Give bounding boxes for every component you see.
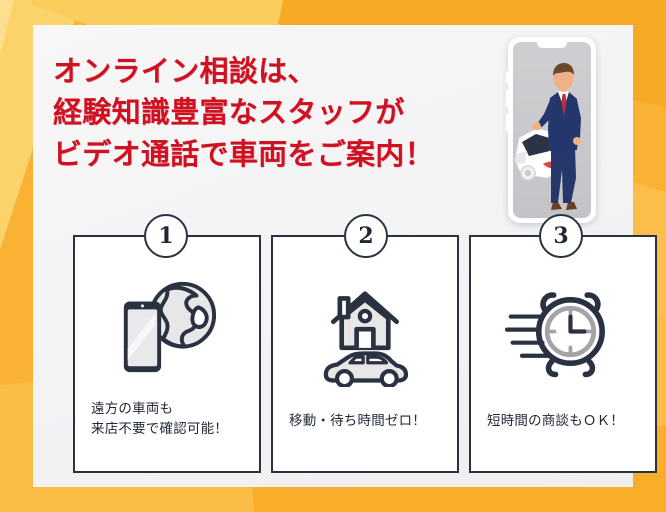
content-panel: オンライン相談は、 経験知識豊富なスタッフが ビデオ通話で車両をご案内！ — [33, 25, 633, 487]
phone-side-button — [506, 113, 509, 131]
promo-banner: オンライン相談は、 経験知識豊富なスタッフが ビデオ通話で車両をご案内！ — [0, 0, 666, 512]
headline-line-2: 経験知識豊富なスタッフが — [53, 92, 434, 133]
card-1-text: 遠方の車両も 来店不要で確認可能！ — [83, 399, 228, 458]
feature-card-3: 短時間の商談もＯＫ！ — [469, 235, 657, 473]
feature-card-2: 移動・待ち時間ゼロ！ — [271, 235, 459, 473]
card-3-icon-area — [479, 253, 647, 411]
headline-line-1: オンライン相談は、 — [53, 51, 434, 92]
smartphone-mockup — [508, 37, 596, 223]
card-3-text: 短時間の商談もＯＫ！ — [479, 411, 624, 457]
card-2-text: 移動・待ち時間ゼロ！ — [281, 411, 426, 457]
card-2-icon-area — [281, 253, 449, 411]
step-badge-3: 3 — [539, 214, 583, 258]
phone-screen — [513, 42, 591, 218]
smartphone-and-globe-icon — [108, 274, 226, 378]
headline: オンライン相談は、 経験知識豊富なスタッフが ビデオ通話で車両をご案内！ — [53, 51, 434, 175]
salesman-with-car-illustration — [513, 42, 591, 218]
alarm-clock-speed-icon — [505, 283, 621, 380]
phone-side-button — [506, 71, 509, 83]
step-badge-2: 2 — [344, 214, 388, 258]
card-1-icon-area — [83, 253, 251, 399]
headline-line-3: ビデオ通話で車両をご案内！ — [53, 134, 434, 175]
step-badge-1: 1 — [144, 214, 188, 258]
phone-side-button — [506, 89, 509, 107]
phone-notch — [537, 42, 567, 48]
feature-card-1: 遠方の車両も 来店不要で確認可能！ — [73, 235, 261, 473]
house-and-car-icon — [309, 277, 421, 387]
feature-card-list: 遠方の車両も 来店不要で確認可能！ — [73, 235, 657, 473]
